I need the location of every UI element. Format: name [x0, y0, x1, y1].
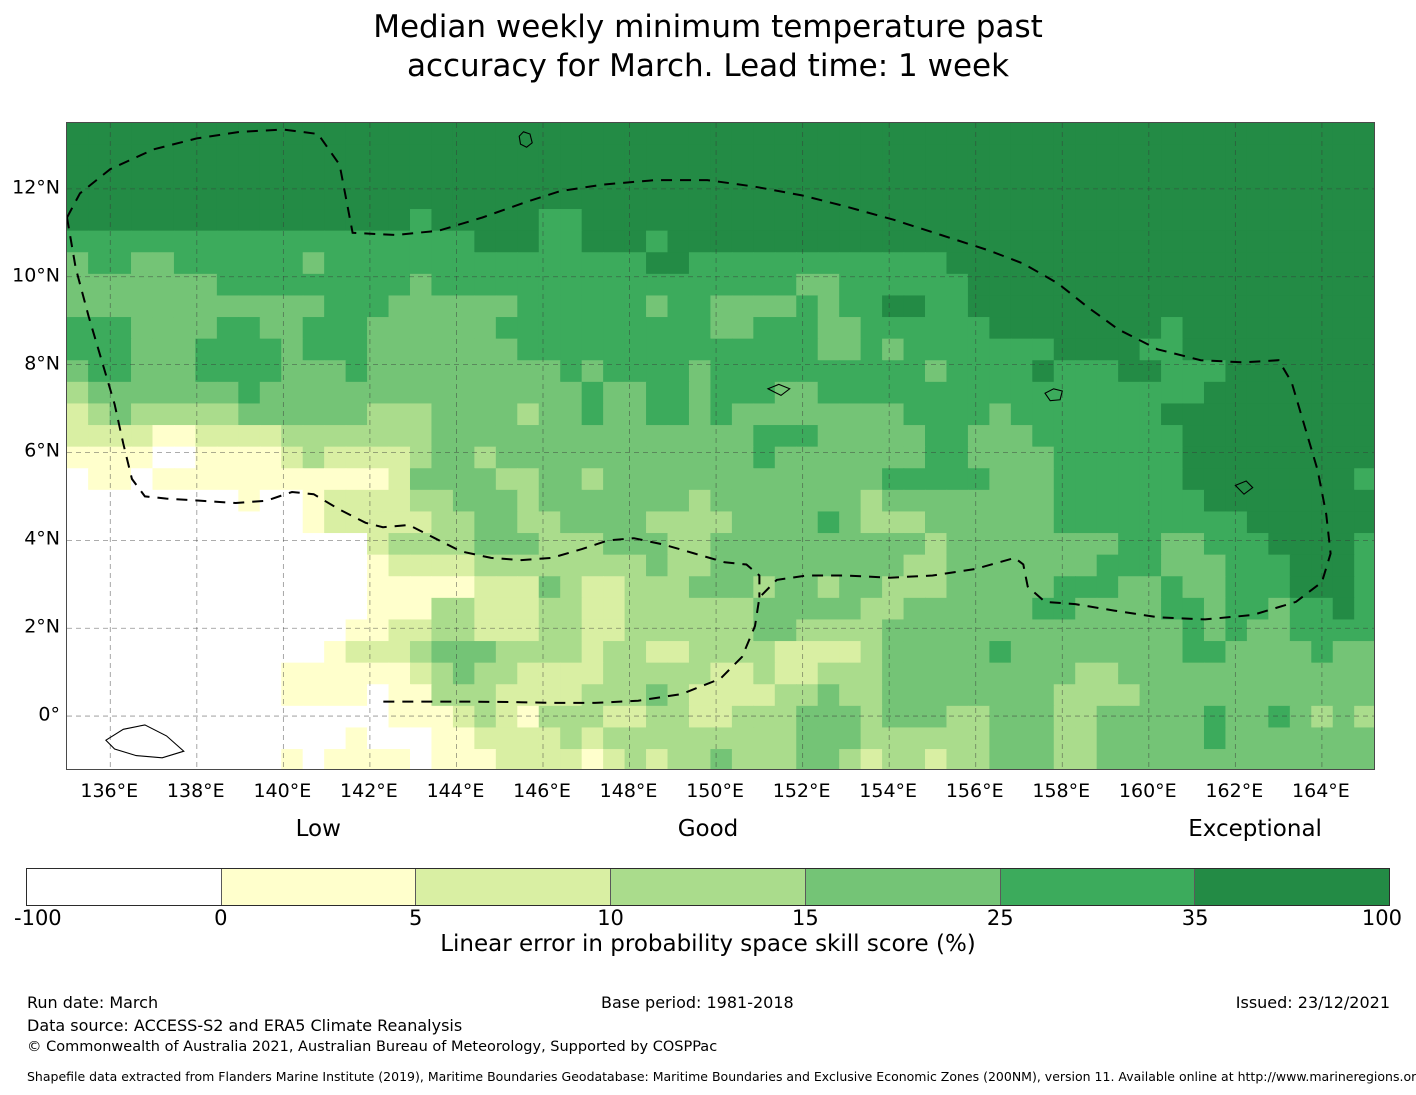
- x-tick-4: 144°E: [427, 782, 485, 801]
- colorbar-tick-0: -100: [14, 908, 62, 929]
- page-title: Median weekly minimum temperature past a…: [0, 8, 1416, 86]
- x-tick-6: 148°E: [600, 782, 658, 801]
- colorbar-segment-4: [805, 869, 1000, 905]
- y-tick-2: 4°N: [24, 530, 60, 549]
- x-tick-13: 162°E: [1205, 782, 1263, 801]
- colorbar-tick-6: 35: [1182, 908, 1209, 929]
- colorbar-tick-1: 0: [214, 908, 227, 929]
- skill-score-heatmap: [67, 123, 1375, 770]
- colorbar-segment-2: [415, 869, 610, 905]
- colorbar-axis-title: Linear error in probability space skill …: [0, 930, 1416, 958]
- colorbar-tick-3: 10: [597, 908, 624, 929]
- colorbar-segment-5: [1000, 869, 1195, 905]
- colorbar-tick-7: 100: [1362, 908, 1402, 929]
- footer-copyright: © Commonwealth of Australia 2021, Austra…: [27, 1037, 717, 1057]
- x-tick-12: 160°E: [1119, 782, 1177, 801]
- y-tick-3: 6°N: [24, 442, 60, 461]
- footer-issued: Issued: 23/12/2021: [1236, 993, 1390, 1013]
- x-tick-2: 140°E: [253, 782, 311, 801]
- x-tick-8: 152°E: [773, 782, 831, 801]
- x-tick-5: 146°E: [513, 782, 571, 801]
- x-tick-3: 142°E: [340, 782, 398, 801]
- colorbar-tick-2: 5: [409, 908, 422, 929]
- colorbar: [26, 868, 1390, 906]
- x-tick-9: 154°E: [859, 782, 917, 801]
- y-tick-4: 8°N: [24, 354, 60, 373]
- y-tick-0: 0°: [38, 706, 60, 725]
- colorbar-tick-4: 15: [792, 908, 819, 929]
- colorbar-segment-0: [27, 869, 221, 905]
- footer-shapefile-note: Shapefile data extracted from Flanders M…: [27, 1069, 1416, 1085]
- colorbar-segment-6: [1194, 869, 1389, 905]
- x-tick-10: 156°E: [946, 782, 1004, 801]
- colorbar-segment-1: [221, 869, 416, 905]
- colorbar-quality-label-0: Low: [296, 818, 341, 841]
- x-tick-7: 150°E: [686, 782, 744, 801]
- colorbar-quality-label-1: Good: [678, 818, 739, 841]
- x-tick-1: 138°E: [167, 782, 225, 801]
- y-tick-6: 12°N: [12, 178, 60, 197]
- y-tick-5: 10°N: [12, 266, 60, 285]
- footer-base-period: Base period: 1981-2018: [601, 993, 794, 1013]
- x-tick-0: 136°E: [80, 782, 138, 801]
- map-plot-area: [66, 122, 1375, 770]
- colorbar-quality-label-2: Exceptional: [1188, 818, 1322, 841]
- colorbar-segment-3: [610, 869, 805, 905]
- x-tick-11: 158°E: [1032, 782, 1090, 801]
- footer-data-source: Data source: ACCESS-S2 and ERA5 Climate …: [27, 1016, 462, 1036]
- colorbar-tick-5: 25: [987, 908, 1014, 929]
- x-tick-14: 164°E: [1292, 782, 1350, 801]
- footer-run-date: Run date: March: [27, 993, 158, 1013]
- y-tick-1: 2°N: [24, 618, 60, 637]
